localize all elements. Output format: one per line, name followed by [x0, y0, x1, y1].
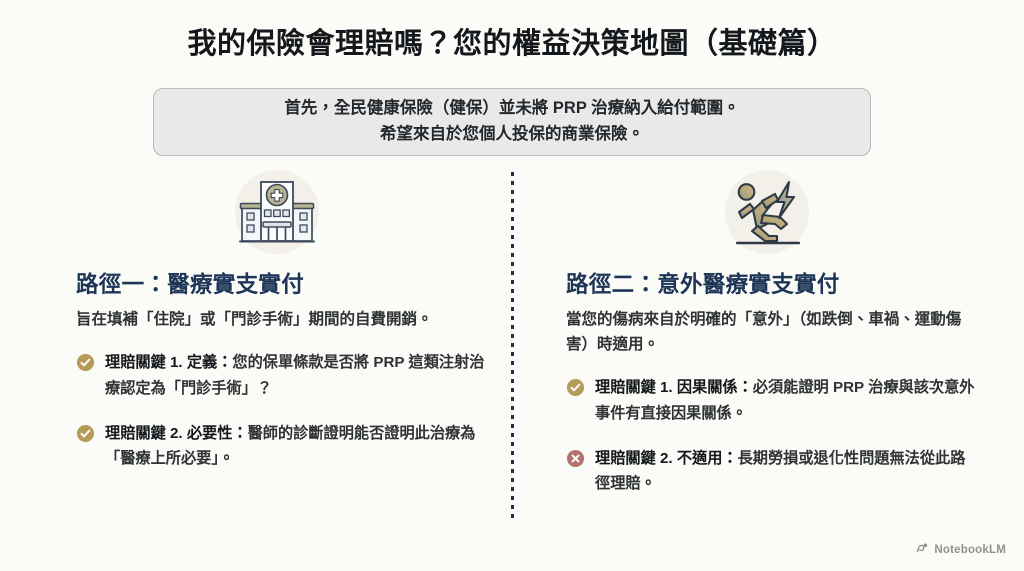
list-item: 理賠關鍵 2. 必要性：醫師的診斷證明能否證明此治療為「醫療上所必要」。 — [76, 421, 486, 471]
path-one-description: 旨在填補「住院」或「門診手術」期間的自費開銷。 — [62, 307, 492, 332]
list-item: 理賠關鍵 1. 因果關係：必須能證明 PRP 治療與該次意外事件有直接因果關係。 — [566, 375, 976, 425]
path-two-icon-wrap — [552, 168, 982, 256]
check-circle-icon — [76, 353, 95, 372]
list-item-lead: 理賠關鍵 1. 因果關係： — [595, 379, 753, 396]
banner-line-2: 希望來自於您個人投保的商業保險。 — [380, 123, 644, 147]
cross-circle-icon — [566, 449, 585, 468]
path-two-heading: 路徑二：意外醫療實支實付 — [552, 270, 982, 299]
path-one-heading: 路徑一：醫療實支實付 — [62, 270, 492, 299]
slide-canvas: 我的保險會理賠嗎？您的權益決策地圖（基礎篇） 首先，全民健康保險（健保）並未將 … — [0, 0, 1024, 571]
vertical-dotted-divider — [511, 172, 514, 520]
list-item-lead: 理賠關鍵 1. 定義： — [105, 354, 232, 371]
path-one-bullet-list: 理賠關鍵 1. 定義：您的保單條款是否將 PRP 這類注射治療認定為「門診手術」… — [62, 350, 492, 471]
notebooklm-label: NotebookLM — [934, 544, 1006, 556]
list-item: 理賠關鍵 1. 定義：您的保單條款是否將 PRP 這類注射治療認定為「門診手術」… — [76, 350, 486, 400]
list-item-text: 理賠關鍵 1. 因果關係：必須能證明 PRP 治療與該次意外事件有直接因果關係。 — [595, 375, 976, 425]
list-item-text: 理賠關鍵 2. 不適用：長期勞損或退化性問題無法從此路徑理賠。 — [595, 446, 976, 496]
path-two-description: 當您的傷病來自於明確的「意外」（如跌倒、車禍、運動傷害）時適用。 — [552, 307, 982, 357]
page-title: 我的保險會理賠嗎？您的權益決策地圖（基礎篇） — [0, 26, 1024, 62]
notebooklm-logo-icon — [916, 541, 929, 559]
path-one-column: 路徑一：醫療實支實付 旨在填補「住院」或「門診手術」期間的自費開銷。 理賠關鍵 … — [62, 168, 492, 491]
list-item: 理賠關鍵 2. 不適用：長期勞損或退化性問題無法從此路徑理賠。 — [566, 446, 976, 496]
slip-fall-accident-icon — [725, 170, 809, 254]
path-two-bullet-list: 理賠關鍵 1. 因果關係：必須能證明 PRP 治療與該次意外事件有直接因果關係。… — [552, 375, 982, 496]
path-one-icon-wrap — [62, 168, 492, 256]
notebooklm-watermark: NotebookLM — [916, 541, 1006, 559]
list-item-text: 理賠關鍵 2. 必要性：醫師的診斷證明能否證明此治療為「醫療上所必要」。 — [105, 421, 486, 471]
list-item-lead: 理賠關鍵 2. 必要性： — [105, 425, 248, 442]
path-two-column: 路徑二：意外醫療實支實付 當您的傷病來自於明確的「意外」（如跌倒、車禍、運動傷害… — [552, 168, 982, 516]
intro-banner: 首先，全民健康保險（健保）並未將 PRP 治療納入給付範圍。 希望來自於您個人投… — [153, 88, 871, 156]
list-item-text: 理賠關鍵 1. 定義：您的保單條款是否將 PRP 這類注射治療認定為「門診手術」… — [105, 350, 486, 400]
check-circle-icon — [76, 424, 95, 443]
list-item-lead: 理賠關鍵 2. 不適用： — [595, 450, 738, 467]
banner-line-1: 首先，全民健康保險（健保）並未將 PRP 治療納入給付範圍。 — [284, 97, 739, 121]
hospital-icon — [235, 170, 319, 254]
check-circle-icon — [566, 378, 585, 397]
